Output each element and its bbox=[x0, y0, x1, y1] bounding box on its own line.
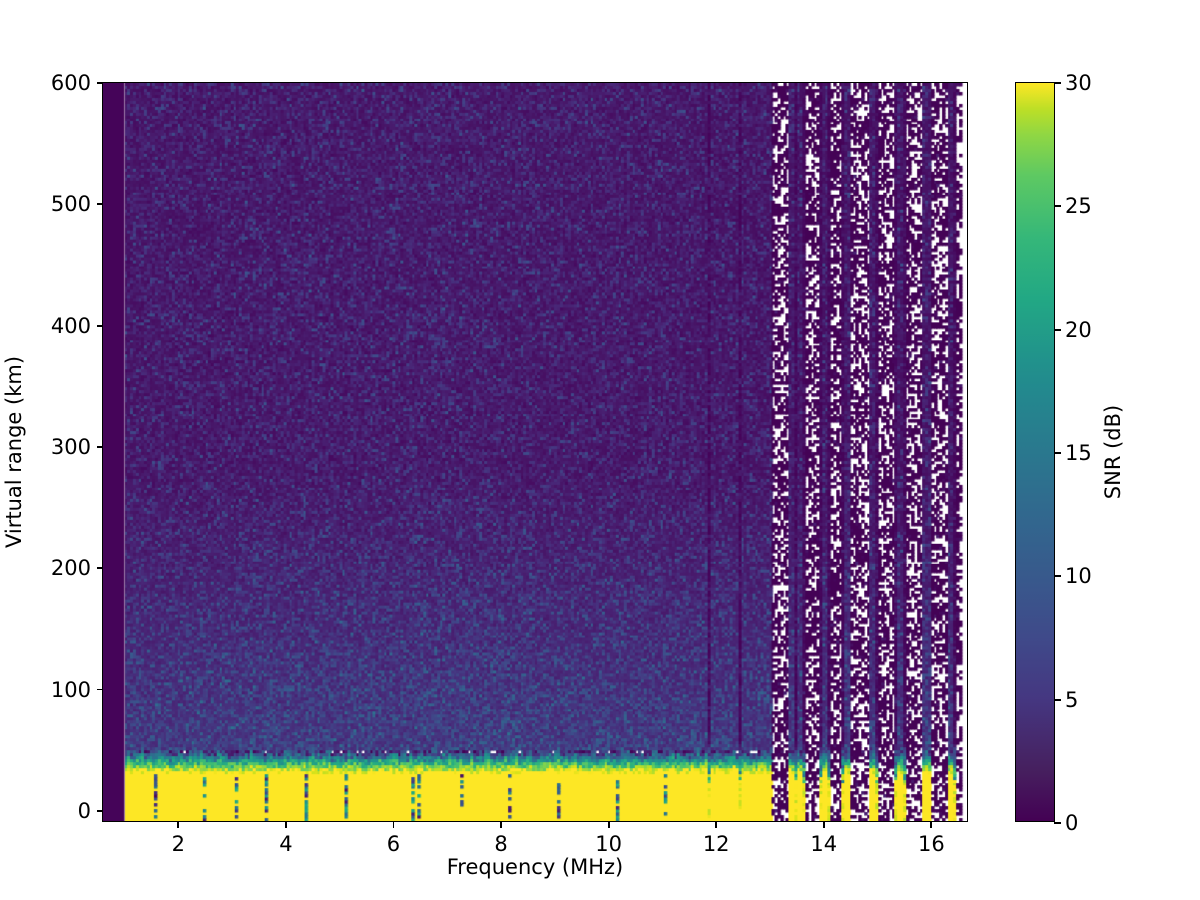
colorbar-ticklabel: 20 bbox=[1065, 317, 1092, 343]
x-ticklabel: 4 bbox=[279, 831, 292, 857]
x-axis-label: Frequency (MHz) bbox=[447, 855, 623, 879]
snr-colorbar[interactable]: 051015202530 bbox=[1015, 82, 1055, 822]
y-ticklabel: 400 bbox=[51, 313, 91, 339]
colorbar-ticklabel: 10 bbox=[1065, 563, 1092, 589]
ionogram-plot-axes[interactable]: 0100200300400500600 246810121416 bbox=[102, 82, 968, 822]
x-tickmark bbox=[930, 821, 932, 828]
x-tickmark bbox=[500, 821, 502, 828]
colorbar-ticklabel: 0 bbox=[1065, 810, 1078, 836]
x-ticklabel: 14 bbox=[810, 831, 837, 857]
y-ticklabel: 0 bbox=[78, 798, 91, 824]
colorbar-label: SNR (dB) bbox=[1101, 405, 1125, 499]
colorbar-ticklabel: 15 bbox=[1065, 440, 1092, 466]
colorbar-ticklabel: 5 bbox=[1065, 687, 1078, 713]
y-axis-label: Virtual range (km) bbox=[2, 356, 26, 548]
x-tickmark bbox=[608, 821, 610, 828]
x-tickmark bbox=[715, 821, 717, 828]
x-tickmark bbox=[177, 821, 179, 828]
ionogram-heatmap bbox=[103, 83, 967, 821]
colorbar-tickmark bbox=[1054, 699, 1061, 701]
x-ticklabel: 2 bbox=[172, 831, 185, 857]
x-tickmark bbox=[393, 821, 395, 828]
y-ticklabel: 100 bbox=[51, 677, 91, 703]
colorbar-tickmark bbox=[1054, 575, 1061, 577]
colorbar-tickmark bbox=[1054, 205, 1061, 207]
x-ticklabel: 8 bbox=[494, 831, 507, 857]
x-tickmark bbox=[823, 821, 825, 828]
x-ticklabel: 16 bbox=[918, 831, 945, 857]
x-ticklabel: 10 bbox=[595, 831, 622, 857]
colorbar-tickmark bbox=[1054, 822, 1061, 824]
colorbar-ticklabel: 30 bbox=[1065, 70, 1092, 96]
colorbar-tickmark bbox=[1054, 329, 1061, 331]
colorbar-tickmark bbox=[1054, 452, 1061, 454]
x-ticklabel: 6 bbox=[387, 831, 400, 857]
y-ticklabel: 300 bbox=[51, 434, 91, 460]
x-tickmark bbox=[285, 821, 287, 828]
colorbar-ticklabel: 25 bbox=[1065, 193, 1092, 219]
colorbar-tickmark bbox=[1054, 82, 1061, 84]
x-ticklabel: 12 bbox=[703, 831, 730, 857]
y-ticklabel: 200 bbox=[51, 555, 91, 581]
